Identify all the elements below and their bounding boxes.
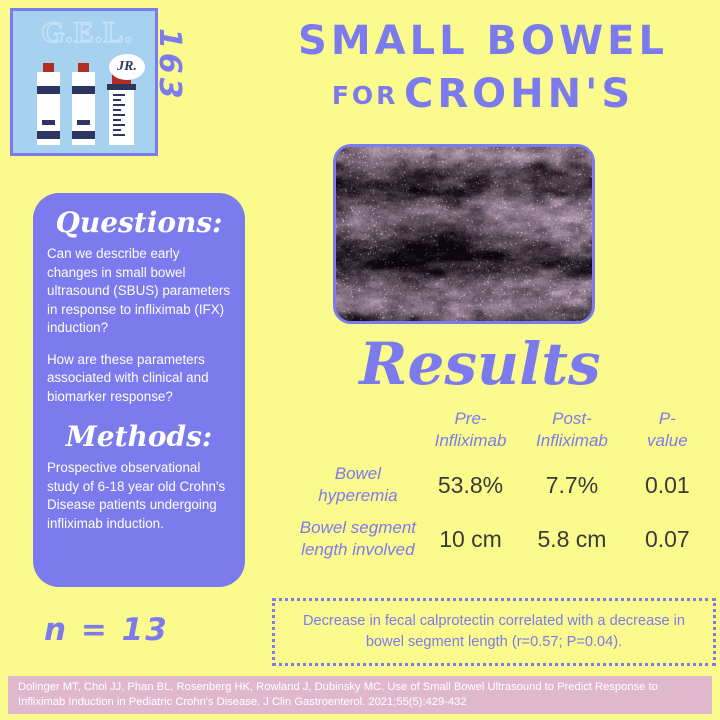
ultrasound-image xyxy=(333,144,595,324)
row-post-segment-length: 5.8 cm xyxy=(521,512,622,566)
vial-tick xyxy=(113,119,121,121)
logo-wordmark: G.E.L. xyxy=(19,16,155,50)
tube-band-1 xyxy=(37,86,60,94)
table-header-row: Pre-Infliximab Post-Infliximab P-value xyxy=(296,408,712,458)
vial-tick xyxy=(113,114,125,116)
row-label-hyperemia: Bowelhyperemia xyxy=(296,458,420,512)
tube-band-4 xyxy=(72,86,95,94)
table-row: Bowelhyperemia 53.8% 7.7% 0.01 xyxy=(296,458,712,512)
conclusion-text: Decrease in fecal calprotectin correlate… xyxy=(275,611,713,653)
row-label-segment-length: Bowel segmentlength involved xyxy=(296,512,420,566)
citation-bar: Dolinger MT, Choi JJ, Phan BL, Rosenberg… xyxy=(8,676,712,714)
vial-tick xyxy=(113,104,125,106)
question-2-text: How are these parameters associated with… xyxy=(47,351,231,407)
sample-size-label: n = 13 xyxy=(44,612,169,648)
results-heading: Results xyxy=(330,332,630,396)
tube-cap-2 xyxy=(78,63,89,72)
vial-tick xyxy=(113,134,125,136)
logo-jr-badge: JR. xyxy=(109,54,145,80)
title-line-2: FOR CROHN'S xyxy=(250,70,716,126)
vial-collar xyxy=(107,84,136,90)
vial-tick xyxy=(113,109,121,111)
page-title: SMALL BOWEL FOR CROHN'S xyxy=(250,18,716,126)
specimen-vial-icon xyxy=(109,88,134,145)
journal-logo-badge: G.E.L. JR. xyxy=(10,8,158,156)
vial-tick xyxy=(113,124,125,126)
tube-band-6 xyxy=(72,131,95,139)
row-pre-hyperemia: 53.8% xyxy=(420,458,521,512)
issue-number: 163 xyxy=(152,28,186,128)
table-header-pre: Pre-Infliximab xyxy=(420,408,521,458)
ultrasound-canvas xyxy=(336,147,592,321)
table-header-blank xyxy=(296,408,420,458)
tube-band-5 xyxy=(77,120,90,125)
vial-tick xyxy=(113,129,121,131)
vial-tick xyxy=(113,94,125,96)
results-table: Pre-Infliximab Post-Infliximab P-value B… xyxy=(296,408,712,566)
row-pre-segment-length: 10 cm xyxy=(420,512,521,566)
title-crohns-word: CROHN'S xyxy=(404,71,634,117)
tube-band-3 xyxy=(37,131,60,139)
question-1-text: Can we describe early changes in small b… xyxy=(47,245,231,338)
row-post-hyperemia: 7.7% xyxy=(521,458,622,512)
title-for-word: FOR xyxy=(332,81,399,110)
questions-methods-card: Questions: Can we describe early changes… xyxy=(33,193,245,587)
tube-cap-1 xyxy=(43,63,54,72)
tube-band-2 xyxy=(42,120,55,125)
methods-heading: Methods: xyxy=(47,419,231,455)
table-header-pvalue: P-value xyxy=(623,408,712,458)
citation-text: Dolinger MT, Choi JJ, Phan BL, Rosenberg… xyxy=(8,680,712,710)
vial-tick xyxy=(113,99,121,101)
title-line-1: SMALL BOWEL xyxy=(250,18,716,64)
row-p-hyperemia: 0.01 xyxy=(623,458,712,512)
table-row: Bowel segmentlength involved 10 cm 5.8 c… xyxy=(296,512,712,566)
questions-heading: Questions: xyxy=(47,205,231,241)
table-header-post: Post-Infliximab xyxy=(521,408,622,458)
methods-text: Prospective observational study of 6-18 … xyxy=(47,459,231,533)
row-p-segment-length: 0.07 xyxy=(623,512,712,566)
conclusion-box: Decrease in fecal calprotectin correlate… xyxy=(272,598,716,666)
